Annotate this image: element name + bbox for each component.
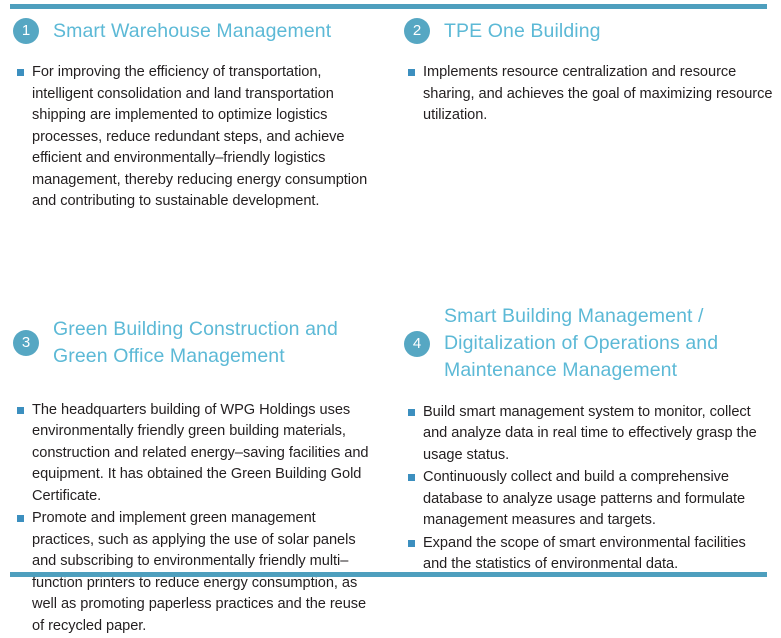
bullet-line: utilization.: [423, 105, 773, 127]
top-divider-rule: [10, 4, 767, 9]
bullet-line: and analyze data in real time to effecti…: [423, 423, 773, 445]
bullet-line: management, thereby reducing energy cons…: [32, 170, 385, 192]
item-3-title-line: Green Office Management: [53, 343, 338, 370]
list-item: Expand the scope of smart environmental …: [404, 533, 773, 576]
item-1-header: 1 Smart Warehouse Management: [13, 14, 385, 48]
bullet-line: For improving the efficiency of transpor…: [32, 62, 385, 84]
bullet-line: processes, reduce redundant steps, and a…: [32, 127, 385, 149]
bullet-line: sharing, and achieves the goal of maximi…: [423, 84, 773, 106]
item-card-1: 1 Smart Warehouse Management For improvi…: [0, 14, 391, 214]
item-card-2: 2 TPE One Building Implements resource c…: [391, 14, 781, 128]
item-2-title-line: TPE One Building: [444, 18, 601, 45]
item-4-title: Smart Building Management / Digitalizati…: [444, 303, 718, 384]
items-row-bottom: 3 Green Building Construction and Green …: [0, 314, 781, 638]
item-3-title: Green Building Construction and Green Of…: [53, 316, 338, 370]
item-3-number-badge: 3: [13, 330, 39, 356]
item-4-header: 4 Smart Building Management / Digitaliza…: [404, 302, 773, 386]
bullet-line: intelligent consolidation and land trans…: [32, 84, 385, 106]
bullet-line: shipping are implemented to optimize log…: [32, 105, 385, 127]
bullet-line: Certificate.: [32, 486, 385, 508]
bullet-line: usage status.: [423, 445, 773, 467]
bullet-line: environmentally friendly green building …: [32, 421, 385, 443]
list-item: Continuously collect and build a compreh…: [404, 467, 773, 532]
bullet-line: Continuously collect and build a compreh…: [423, 467, 773, 489]
bullet-line: of recycled paper.: [32, 616, 385, 638]
list-item: Build smart management system to monitor…: [404, 402, 773, 467]
item-2-header: 2 TPE One Building: [404, 14, 773, 48]
item-4-title-line: Digitalization of Operations and: [444, 330, 718, 357]
bullet-line: efficient and environmentally–friendly l…: [32, 148, 385, 170]
item-3-title-line: Green Building Construction and: [53, 316, 338, 343]
bullet-line: construction and related energy–saving f…: [32, 443, 385, 465]
bullet-line: well as promoting paperless practices an…: [32, 594, 385, 616]
item-3-bullet-list: The headquarters building of WPG Holding…: [13, 400, 385, 638]
infographic-page: 1 Smart Warehouse Management For improvi…: [0, 0, 781, 591]
item-4-title-line: Smart Building Management /: [444, 303, 718, 330]
items-row-top: 1 Smart Warehouse Management For improvi…: [0, 14, 781, 214]
item-4-bullet-list: Build smart management system to monitor…: [404, 402, 773, 576]
bullet-line: and contributing to sustainable developm…: [32, 191, 385, 213]
item-1-title-line: Smart Warehouse Management: [53, 18, 331, 45]
bullet-line: equipment. It has obtained the Green Bui…: [32, 464, 385, 486]
item-1-title: Smart Warehouse Management: [53, 18, 331, 45]
bullet-line: Promote and implement green management: [32, 508, 385, 530]
bullet-line: practices, such as applying the use of s…: [32, 530, 385, 552]
item-1-bullet-list: For improving the efficiency of transpor…: [13, 62, 385, 213]
item-3-header: 3 Green Building Construction and Green …: [13, 314, 385, 372]
bullet-line: management measures and targets.: [423, 510, 773, 532]
item-card-4: 4 Smart Building Management / Digitaliza…: [391, 314, 781, 577]
bullet-line: The headquarters building of WPG Holding…: [32, 400, 385, 422]
bullet-line: database to analyze usage patterns and f…: [423, 489, 773, 511]
list-item: Implements resource centralization and r…: [404, 62, 773, 127]
items-grid: 1 Smart Warehouse Management For improvi…: [0, 14, 781, 638]
list-item: For improving the efficiency of transpor…: [13, 62, 385, 213]
item-2-title: TPE One Building: [444, 18, 601, 45]
item-4-title-line: Maintenance Management: [444, 357, 718, 384]
item-2-number-badge: 2: [404, 18, 430, 44]
list-item: The headquarters building of WPG Holding…: [13, 400, 385, 508]
bottom-divider-rule: [10, 572, 767, 577]
item-4-number-badge: 4: [404, 331, 430, 357]
bullet-line: Implements resource centralization and r…: [423, 62, 773, 84]
item-2-bullet-list: Implements resource centralization and r…: [404, 62, 773, 127]
item-1-number-badge: 1: [13, 18, 39, 44]
bullet-line: and subscribing to environmentally frien…: [32, 551, 385, 573]
bullet-line: Expand the scope of smart environmental …: [423, 533, 773, 555]
item-card-3: 3 Green Building Construction and Green …: [0, 314, 391, 638]
bullet-line: Build smart management system to monitor…: [423, 402, 773, 424]
